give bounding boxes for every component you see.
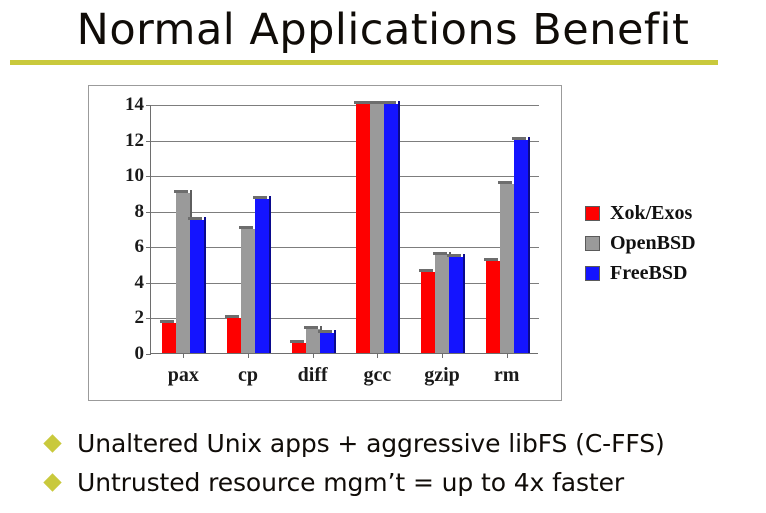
y-axis-tick-label: 12 (125, 130, 144, 152)
x-axis-tick-mark (183, 353, 184, 358)
bullet-text: Unaltered Unix apps + aggressive libFS (… (77, 429, 665, 458)
legend-swatch-icon (585, 236, 600, 251)
chart-bar (190, 220, 204, 353)
legend-item-openbsd: OpenBSD (585, 228, 696, 258)
chart-bar (514, 140, 528, 353)
y-axis-tick-label: 8 (135, 201, 145, 223)
y-axis-tick-mark (146, 354, 151, 355)
chart-bar (500, 184, 514, 353)
chart-bar (241, 229, 255, 354)
x-axis-tick-label: rm (494, 364, 520, 387)
chart-legend: Xok/ExosOpenBSDFreeBSD (585, 198, 696, 288)
bullet-list: Unaltered Unix apps + aggressive libFS (… (46, 424, 756, 502)
chart-bar (255, 199, 269, 353)
chart-bar-group-bars (345, 104, 410, 353)
legend-item-xok-exos: Xok/Exos (585, 198, 696, 228)
chart-bar (370, 104, 384, 353)
chart-bar (435, 255, 449, 353)
legend-swatch-icon (585, 266, 600, 281)
chart-bar (162, 323, 176, 353)
legend-label: Xok/Exos (610, 202, 692, 225)
chart-bar-group: diff (280, 104, 345, 353)
chart-bar (384, 104, 398, 353)
chart-bar-group: gcc (345, 104, 410, 353)
x-axis-tick-mark (313, 353, 314, 358)
chart-bar-group-bars (410, 104, 475, 353)
y-axis-tick-label: 2 (135, 307, 145, 329)
x-axis-tick-label: gcc (363, 364, 391, 387)
x-axis-tick-label: pax (168, 364, 199, 387)
chart-bar (421, 272, 435, 353)
chart-container: 02468101214paxcpdiffgccgziprm (88, 85, 562, 401)
y-axis-tick-label: 6 (135, 236, 145, 258)
chart-bar-group-bars (216, 104, 281, 353)
chart-bar (292, 343, 306, 353)
chart-bar (486, 261, 500, 353)
bullet-item: Unaltered Unix apps + aggressive libFS (… (46, 424, 756, 463)
y-axis-tick-label: 0 (135, 343, 145, 365)
y-axis-tick-label: 14 (125, 94, 144, 116)
bullet-item: Untrusted resource mgm’t = up to 4x fast… (46, 463, 756, 502)
chart-bar (449, 257, 463, 353)
x-axis-tick-mark (442, 353, 443, 358)
legend-item-freebsd: FreeBSD (585, 258, 696, 288)
diamond-bullet-icon (43, 473, 61, 491)
chart-bar-group: rm (474, 104, 539, 353)
diamond-bullet-icon (43, 434, 61, 452)
legend-label: OpenBSD (610, 232, 696, 255)
x-axis-tick-mark (377, 353, 378, 358)
x-axis-tick-mark (248, 353, 249, 358)
legend-swatch-icon (585, 206, 600, 221)
x-axis-tick-label: diff (298, 364, 328, 387)
chart-plot-area: 02468101214paxcpdiffgccgziprm (150, 105, 538, 354)
title-underline-rule (10, 60, 718, 65)
legend-label: FreeBSD (610, 262, 687, 285)
page-title: Normal Applications Benefit (0, 2, 766, 58)
y-axis-tick-label: 4 (135, 272, 145, 294)
chart-bar (227, 318, 241, 353)
chart-bar (356, 104, 370, 353)
bullet-text: Untrusted resource mgm’t = up to 4x fast… (77, 468, 624, 497)
chart-bar-group: pax (151, 104, 216, 353)
chart-bar (320, 333, 334, 353)
chart-bar-group: gzip (410, 104, 475, 353)
chart-bar-group-bars (280, 104, 345, 353)
y-axis-tick-label: 10 (125, 165, 144, 187)
x-axis-tick-label: cp (238, 364, 258, 387)
x-axis-tick-label: gzip (424, 364, 460, 387)
chart-bar-group-bars (474, 104, 539, 353)
chart-bar-group-bars (151, 104, 216, 353)
x-axis-tick-mark (507, 353, 508, 358)
chart-bar-group: cp (216, 104, 281, 353)
